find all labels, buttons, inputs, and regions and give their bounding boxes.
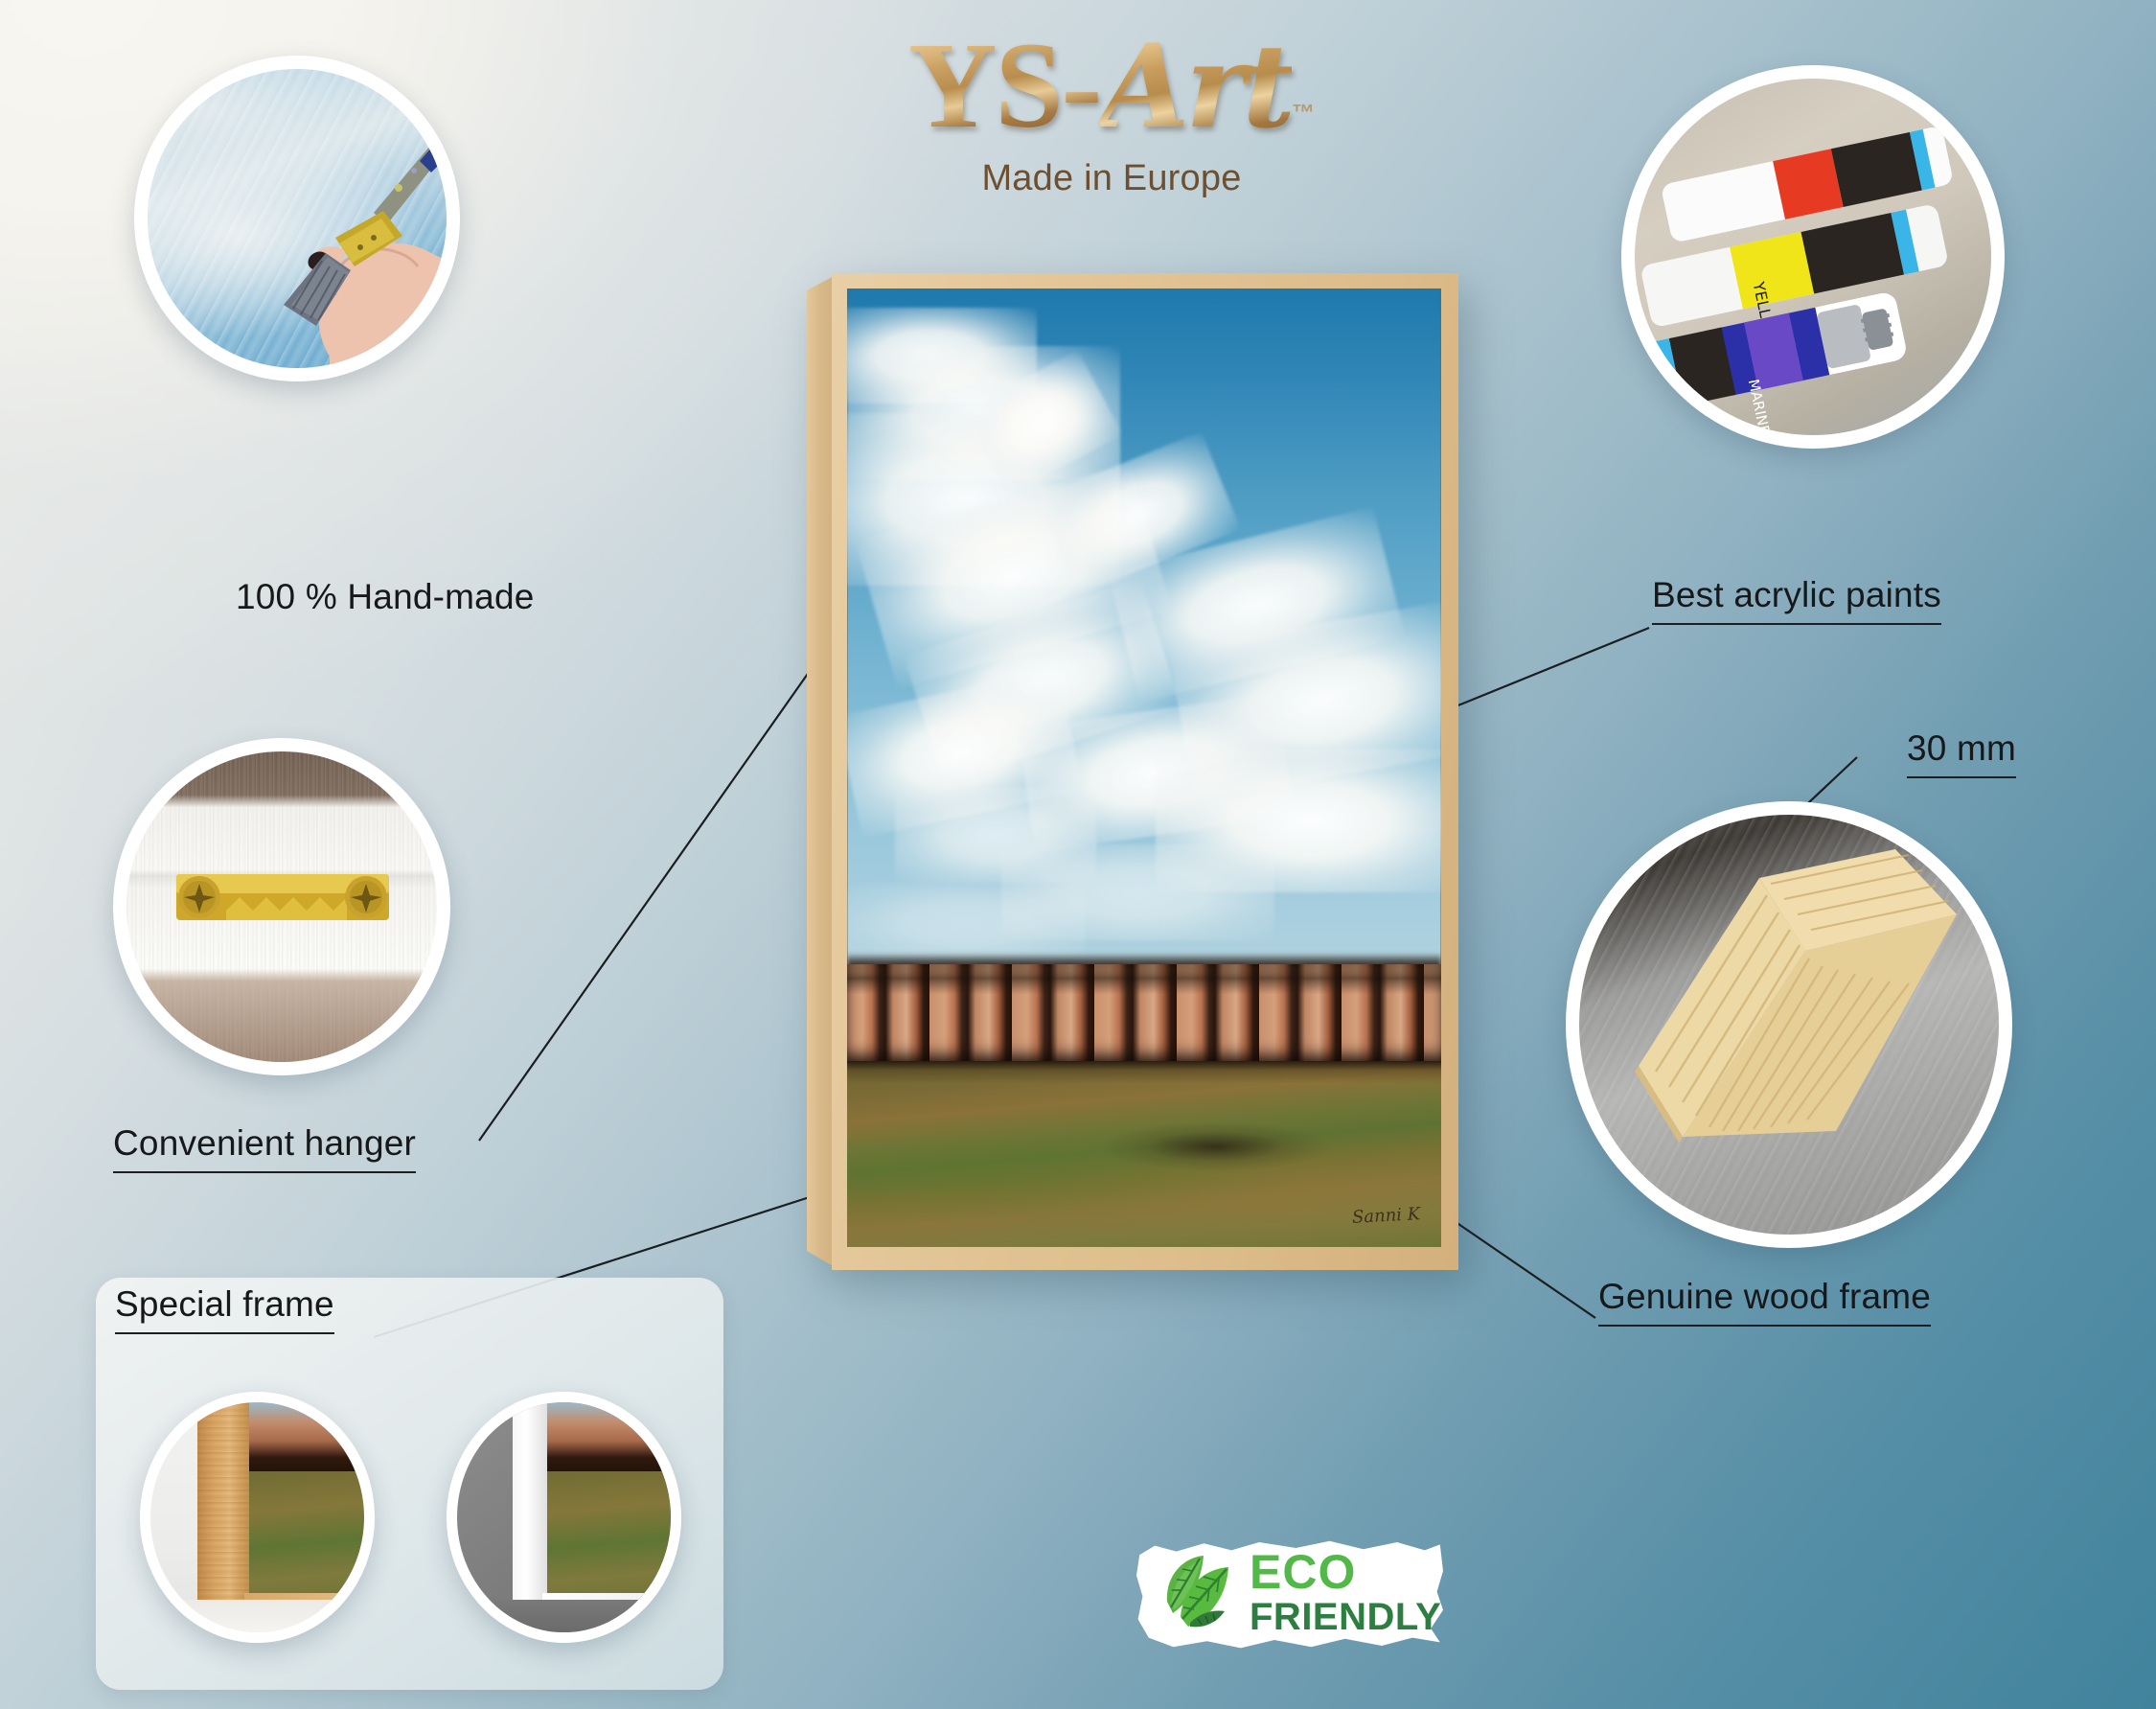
- hanger-photo: [113, 738, 450, 1075]
- trademark-icon: ™: [1292, 101, 1315, 127]
- wood-frame-face: Sanni K: [832, 273, 1458, 1270]
- painting-canvas: Sanni K: [847, 289, 1441, 1247]
- hand-icon: [148, 69, 447, 368]
- paint-tubes-icon: YELLOW MARINE BLUE: [1635, 79, 1991, 435]
- rock-cliffs: [847, 964, 1441, 1065]
- wood-frame-label: Genuine wood frame: [1598, 1277, 1931, 1327]
- special-frame-white-photo: [447, 1392, 681, 1643]
- hand-made-photo: [134, 56, 460, 381]
- artist-signature: Sanni K: [1351, 1204, 1420, 1228]
- eco-line1: ECO: [1250, 1548, 1356, 1596]
- brand-tagline: Made in Europe: [824, 158, 1399, 199]
- thickness-label: 30 mm: [1907, 728, 2016, 778]
- svg-text:MARINE BLUE: MARINE BLUE: [1745, 378, 1782, 435]
- framed-painting: Sanni K: [807, 273, 1458, 1270]
- eco-friendly-badge: ECO FRIENDLY: [1136, 1536, 1443, 1651]
- special-frame-label: Special frame: [115, 1284, 334, 1334]
- infographic-canvas: YS-Art™ Made in Europe: [0, 0, 2156, 1709]
- hand-made-label: 100 % Hand-made: [236, 577, 535, 625]
- pine-block-icon: [1579, 815, 1999, 1235]
- logo-script-text: Art: [1100, 19, 1292, 154]
- brand-logo: YS-Art™ Made in Europe: [824, 19, 1399, 230]
- sawtooth-hanger-icon: [126, 751, 437, 1062]
- wood-frame-photo: [1566, 801, 2012, 1248]
- acrylic-paints-photo: YELLOW MARINE BLUE: [1621, 65, 2005, 449]
- special-frame-wood-photo: [140, 1392, 375, 1643]
- leader-line-hanger: [479, 671, 810, 1141]
- leaf-icon: [1154, 1550, 1246, 1638]
- acrylic-paints-label: Best acrylic paints: [1652, 575, 1941, 625]
- hanger-label: Convenient hanger: [113, 1123, 416, 1173]
- logo-primary-text: YS-: [908, 24, 1100, 147]
- eco-line2: FRIENDLY: [1250, 1598, 1441, 1636]
